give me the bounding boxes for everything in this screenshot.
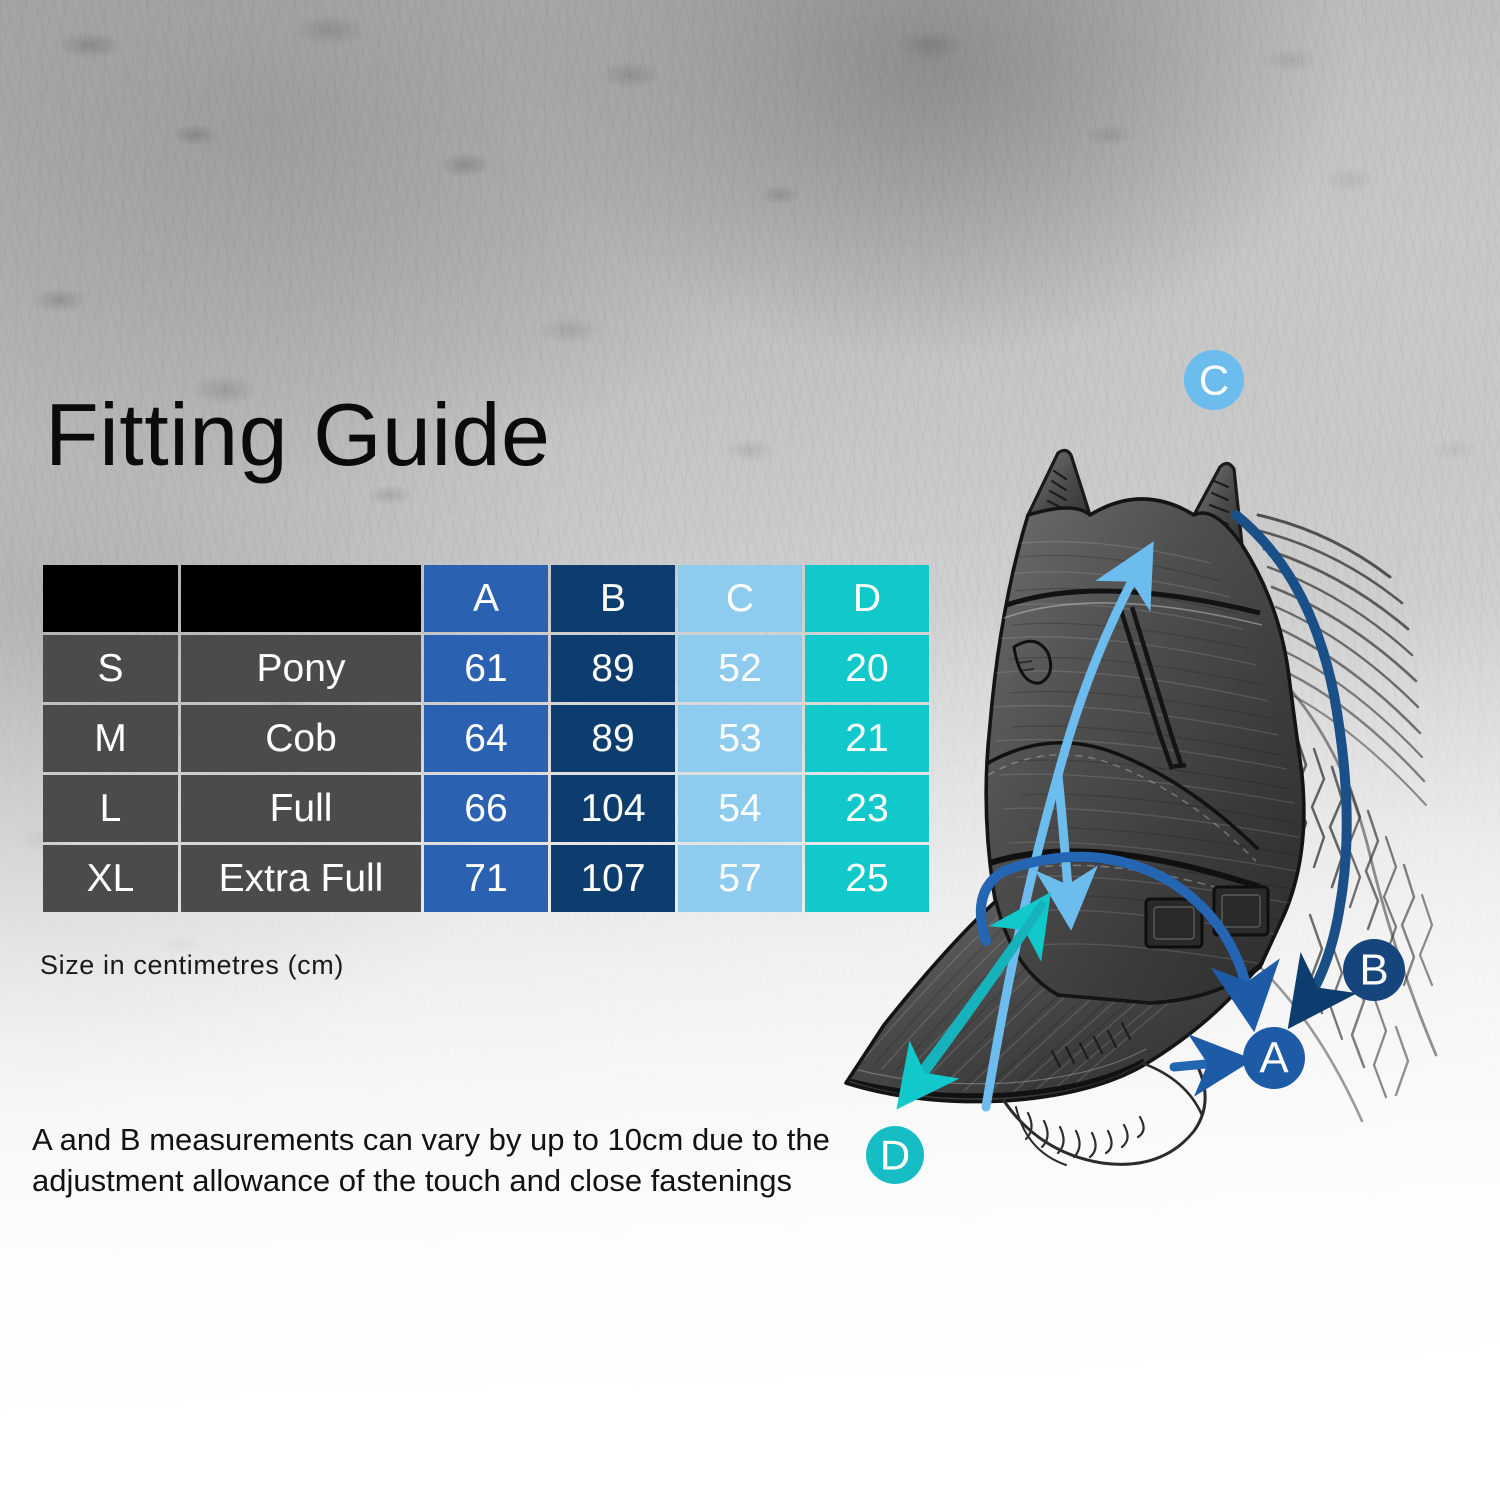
header-measurement-b: B [551, 565, 675, 632]
marker-label-d: D [880, 1132, 910, 1179]
cell-c: 54 [678, 775, 802, 842]
marker-badge-a: A [1243, 1027, 1305, 1089]
cell-c: 52 [678, 635, 802, 702]
cell-name: Extra Full [181, 845, 421, 912]
cell-c: 53 [678, 705, 802, 772]
cell-a: 66 [424, 775, 548, 842]
marker-label-c: C [1199, 357, 1229, 404]
cell-size: L [43, 775, 178, 842]
cell-a: 61 [424, 635, 548, 702]
header-measurement-c: C [678, 565, 802, 632]
cell-name: Full [181, 775, 421, 842]
cell-b: 107 [551, 845, 675, 912]
page-title: Fitting Guide [45, 391, 550, 479]
cell-b: 104 [551, 775, 675, 842]
cell-b: 89 [551, 705, 675, 772]
cell-size: XL [43, 845, 178, 912]
header-measurement-a: A [424, 565, 548, 632]
measurement-footnote: A and B measurements can vary by up to 1… [32, 1120, 832, 1202]
cell-name: Cob [181, 705, 421, 772]
marker-label-a: A [1259, 1034, 1289, 1083]
cell-c: 57 [678, 845, 802, 912]
measurement-arrow-a-pointer [1174, 1061, 1238, 1067]
table-units-note: Size in centimetres (cm) [40, 950, 344, 981]
cell-a: 71 [424, 845, 548, 912]
header-blank-size [43, 565, 178, 632]
marker-badge-c: C [1184, 350, 1244, 410]
marker-badge-d: D [866, 1126, 924, 1184]
cell-name: Pony [181, 635, 421, 702]
marker-badge-b: B [1343, 939, 1405, 1001]
fitting-guide-page: Fitting Guide A B C D S Pony 61 89 52 20 [0, 0, 1500, 1500]
header-blank-name [181, 565, 421, 632]
cell-size: S [43, 635, 178, 702]
fly-mask-head [986, 499, 1304, 1005]
cell-size: M [43, 705, 178, 772]
cell-a: 64 [424, 705, 548, 772]
horse-fly-mask-diagram: C B A D [790, 215, 1500, 1215]
cell-b: 89 [551, 635, 675, 702]
marker-label-b: B [1359, 946, 1388, 995]
